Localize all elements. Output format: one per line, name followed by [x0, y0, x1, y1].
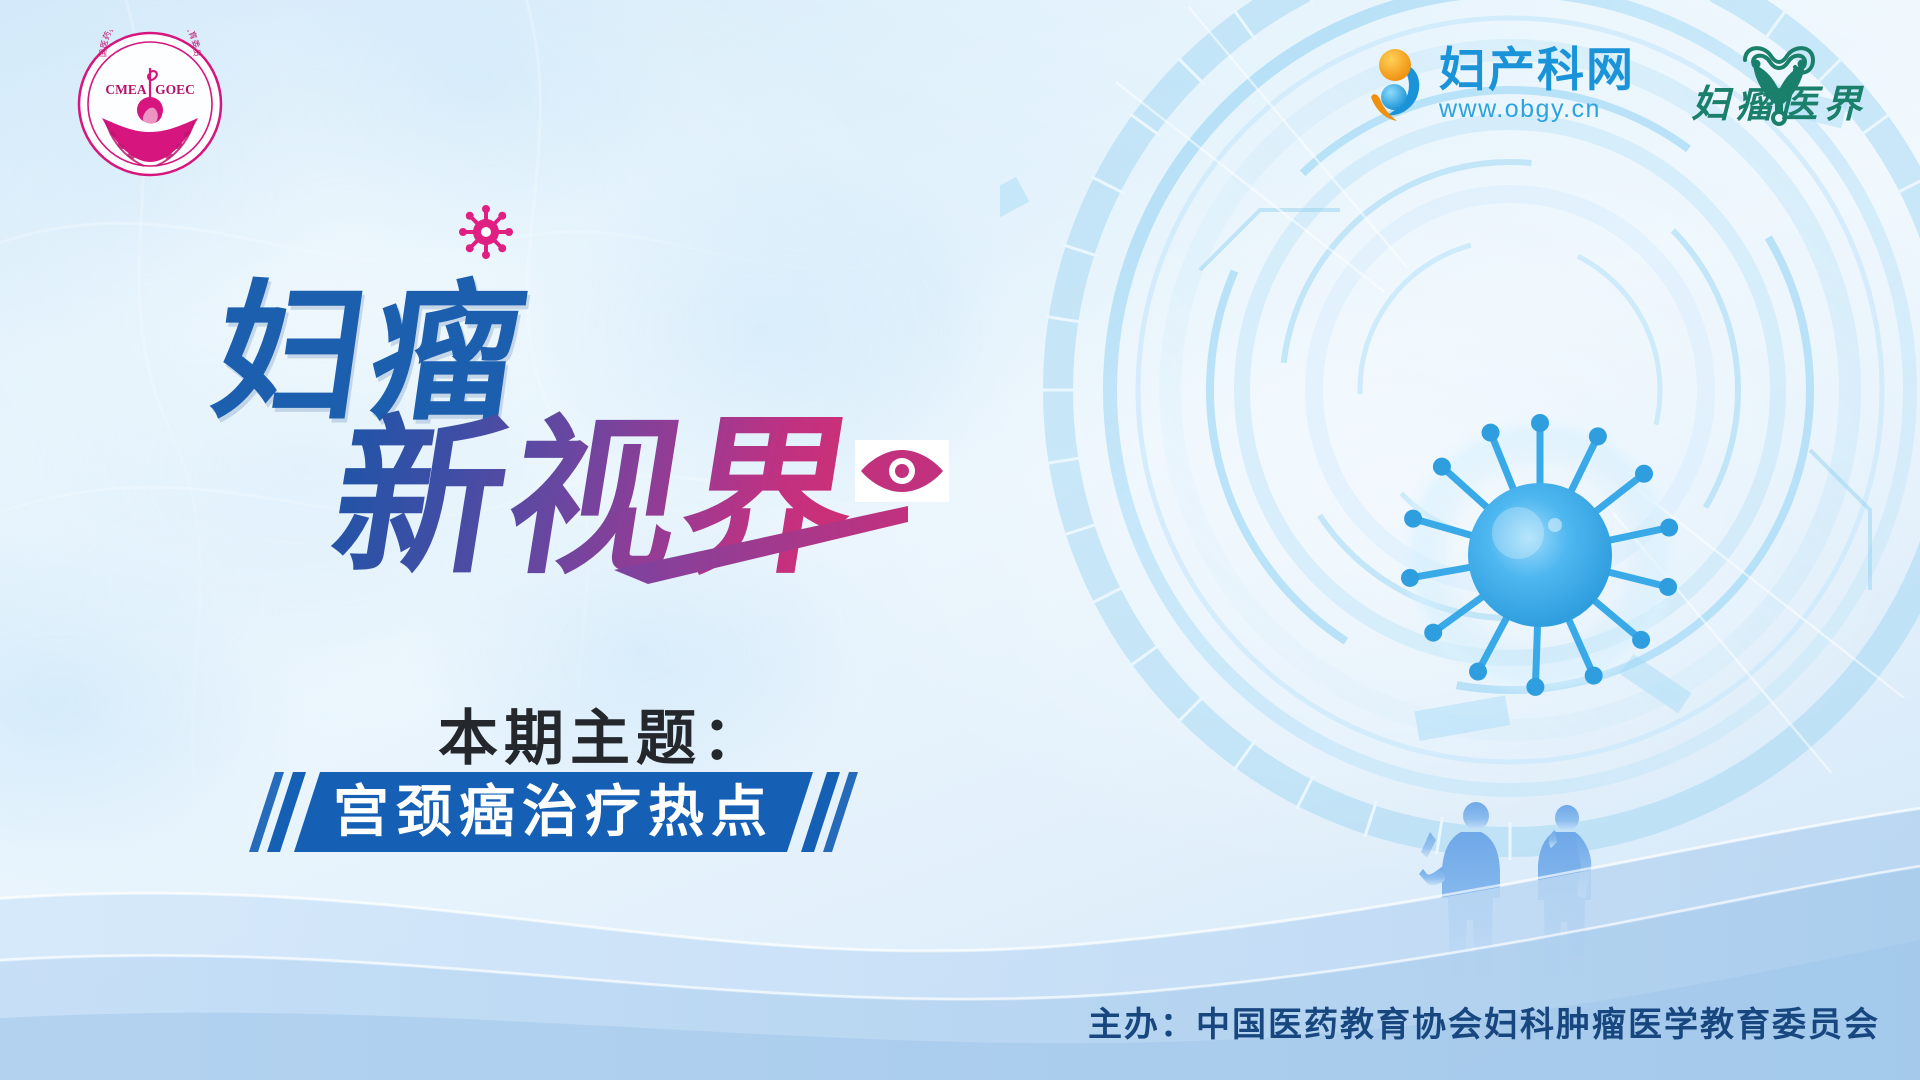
virus-icon	[458, 204, 514, 260]
organizer-text: 主办：中国医药教育协会妇科肿瘤医学教育委员会	[1088, 997, 1880, 1046]
assoc-acronym-right: GOEC	[155, 82, 195, 97]
assoc-acronym-left: CMEA	[105, 82, 146, 97]
partner-logo-obgy[interactable]: 妇产科网 www.obgy.cn	[1365, 45, 1635, 123]
partner-logos: 妇产科网 www.obgy.cn 妇瘤医界	[1365, 38, 1882, 130]
obgy-url: www.obgy.cn	[1439, 97, 1635, 122]
assoc-logo: 中国医药教育协会妇科肿瘤医学教育委员会 CMEA GOEC	[76, 30, 224, 178]
slash-group-right	[814, 772, 845, 852]
fuliu-yijie-name: 妇瘤医界	[1677, 73, 1882, 128]
topic-banner: 宫颈癌治疗热点	[294, 772, 813, 852]
partner-logo-fuliu-yijie[interactable]: 妇瘤医界	[1677, 38, 1882, 130]
main-title: 妇瘤	[200, 232, 1000, 652]
obgy-name: 妇产科网	[1439, 46, 1635, 93]
title-line-2: 新视界	[319, 360, 880, 606]
virus-cell-graphic	[1390, 405, 1690, 705]
promo-banner: 中国医药教育协会妇科肿瘤医学教育委员会 CMEA GOEC	[0, 0, 1920, 1080]
eye-icon	[855, 440, 949, 502]
topic-banner-row: 宫颈癌治疗热点	[262, 772, 845, 852]
person-circle-icon	[1365, 45, 1427, 123]
subtitle-label: 本期主题：	[438, 690, 768, 777]
slash-group-left	[262, 772, 293, 852]
topic-text: 宫颈癌治疗热点	[333, 784, 774, 840]
